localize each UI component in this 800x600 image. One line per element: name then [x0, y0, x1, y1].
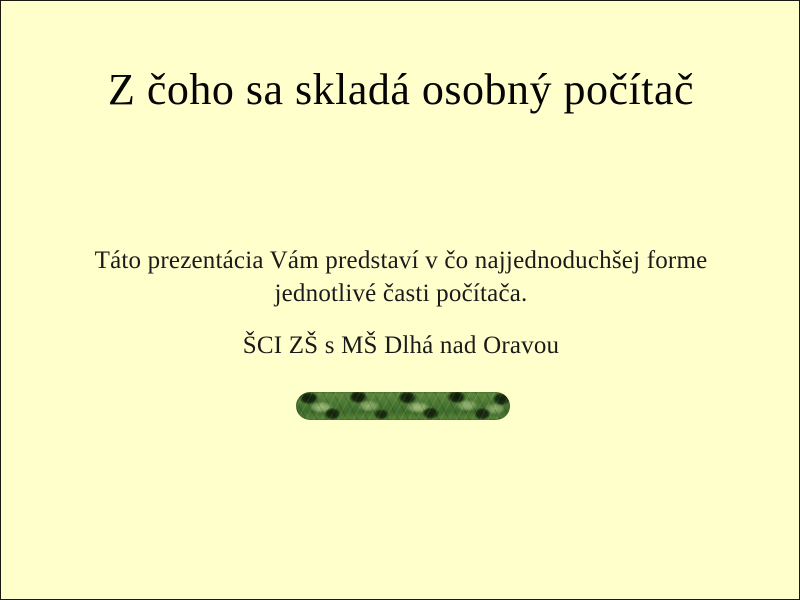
leaf-veins-texture [296, 392, 510, 420]
body-line: jednotlivé časti počítača. [1, 277, 800, 310]
leaf-pill-icon [296, 392, 510, 420]
body-text-block: Táto prezentácia Vám predstaví v čo najj… [1, 244, 800, 310]
body-line: Táto prezentácia Vám predstaví v čo najj… [1, 244, 800, 277]
organization-text: ŠCI ZŠ s MŠ Dlhá nad Oravou [1, 329, 800, 362]
presentation-slide: Z čoho sa skladá osobný počítač Táto pre… [0, 0, 800, 600]
page-title: Z čoho sa skladá osobný počítač [1, 63, 800, 117]
